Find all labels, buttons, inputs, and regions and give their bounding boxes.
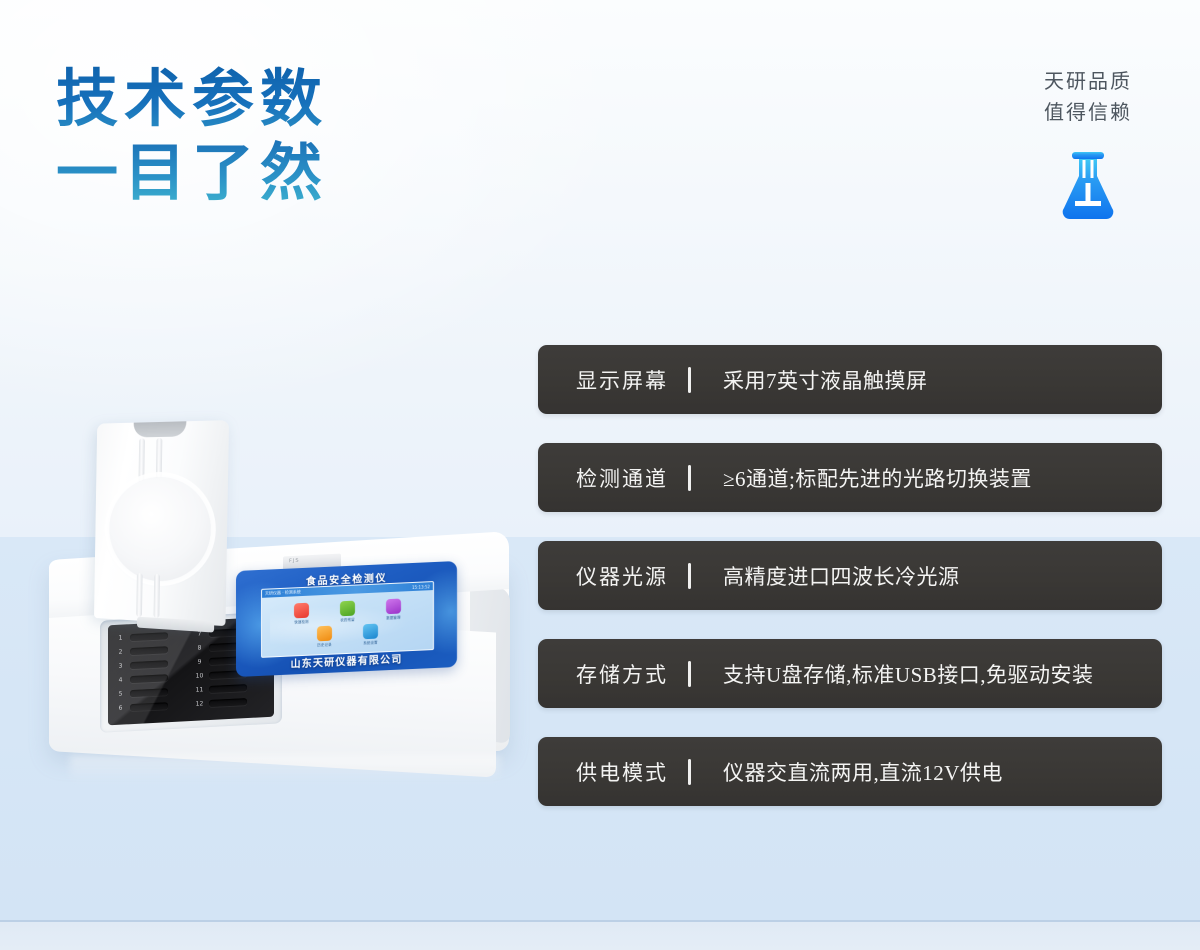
lcd-app-label: 农药残留 — [328, 616, 368, 623]
lcd-panel[interactable]: 天研仪器 · 检测系统 15:13:52 快速检测 农药残留 数据管理 — [261, 581, 434, 658]
history-icon — [317, 626, 332, 642]
lcd-app-label: 快速检测 — [282, 618, 322, 625]
lcd-app-label: 数据管理 — [374, 614, 414, 621]
page-title-line-1: 技术参数 — [56, 62, 328, 136]
spec-row-storage: 存储方式 支持U盘存储,标准USB接口,免驱动安装 — [538, 639, 1162, 708]
gear-icon — [363, 624, 378, 640]
spec-row-display: 显示屏幕 采用7英寸液晶触摸屏 — [538, 345, 1162, 414]
spec-row-light-source: 仪器光源 高精度进口四波长冷光源 — [538, 541, 1162, 610]
spec-value: 支持U盘存储,标准USB接口,免驱动安装 — [691, 659, 1094, 689]
lcd-app-5[interactable]: 系统设置 — [351, 623, 391, 646]
flask-icon-wrap — [1028, 150, 1148, 222]
lcd-app-label: 系统设置 — [351, 639, 391, 646]
device-lid — [94, 420, 229, 626]
lcd-clock: 15:13:52 — [412, 584, 430, 590]
spec-list: 显示屏幕 采用7英寸液晶触摸屏 检测通道 ≥6通道;标配先进的光路切换装置 仪器… — [538, 345, 1162, 806]
spec-value: 高精度进口四波长冷光源 — [691, 561, 960, 591]
lcd-app-label: 历史记录 — [305, 641, 345, 648]
spec-row-channels: 检测通道 ≥6通道;标配先进的光路切换装置 — [538, 443, 1162, 512]
brand-line-1: 天研品质 — [1028, 66, 1148, 97]
background-bottom-strip — [0, 922, 1200, 950]
device-screen: 食品安全检测仪 天研仪器 · 检测系统 15:13:52 快速检测 农药残留 — [236, 561, 457, 677]
product-image: 1 2 3 4 5 6 7 8 9 10 — [40, 410, 540, 810]
lcd-app-3[interactable]: 数据管理 — [374, 598, 414, 621]
lcd-app-1[interactable]: 快速检测 — [282, 602, 322, 625]
spec-key: 存储方式 — [538, 659, 688, 689]
flask-icon — [1057, 150, 1119, 222]
page-title-line-2: 一目了然 — [56, 136, 328, 210]
lcd-status-left: 天研仪器 · 检测系统 — [265, 589, 301, 597]
spec-value: 采用7英寸液晶触摸屏 — [691, 365, 928, 395]
spec-row-power: 供电模式 仪器交直流两用,直流12V供电 — [538, 737, 1162, 806]
lcd-app-2[interactable]: 农药残留 — [328, 600, 368, 623]
quick-test-icon — [294, 603, 309, 619]
screen-mount-label: FJS — [289, 558, 300, 565]
spec-value: 仪器交直流两用,直流12V供电 — [691, 757, 1003, 787]
lid-window — [109, 477, 212, 583]
data-icon — [386, 599, 401, 615]
lcd-app-grid: 快速检测 农药残留 数据管理 历史记录 — [262, 594, 433, 657]
shield-icon — [340, 601, 355, 617]
brand-line-2: 值得信赖 — [1028, 97, 1148, 128]
spec-key: 供电模式 — [538, 757, 688, 787]
lid-rib — [138, 438, 145, 484]
device-reflection — [70, 755, 500, 783]
lid-notch — [133, 421, 186, 437]
lid-rib — [153, 574, 160, 618]
spec-key: 仪器光源 — [538, 561, 688, 591]
lid-rib — [136, 573, 142, 617]
brand-block: 天研品质 值得信赖 — [1028, 66, 1148, 222]
page-title: 技术参数 一目了然 — [56, 62, 328, 210]
spec-key: 检测通道 — [538, 463, 688, 493]
spec-value: ≥6通道;标配先进的光路切换装置 — [691, 463, 1032, 493]
poster-stage: 技术参数 一目了然 天研品质 值得信赖 — [0, 0, 1200, 950]
lcd-app-4[interactable]: 历史记录 — [305, 625, 345, 648]
spec-key: 显示屏幕 — [538, 365, 688, 395]
